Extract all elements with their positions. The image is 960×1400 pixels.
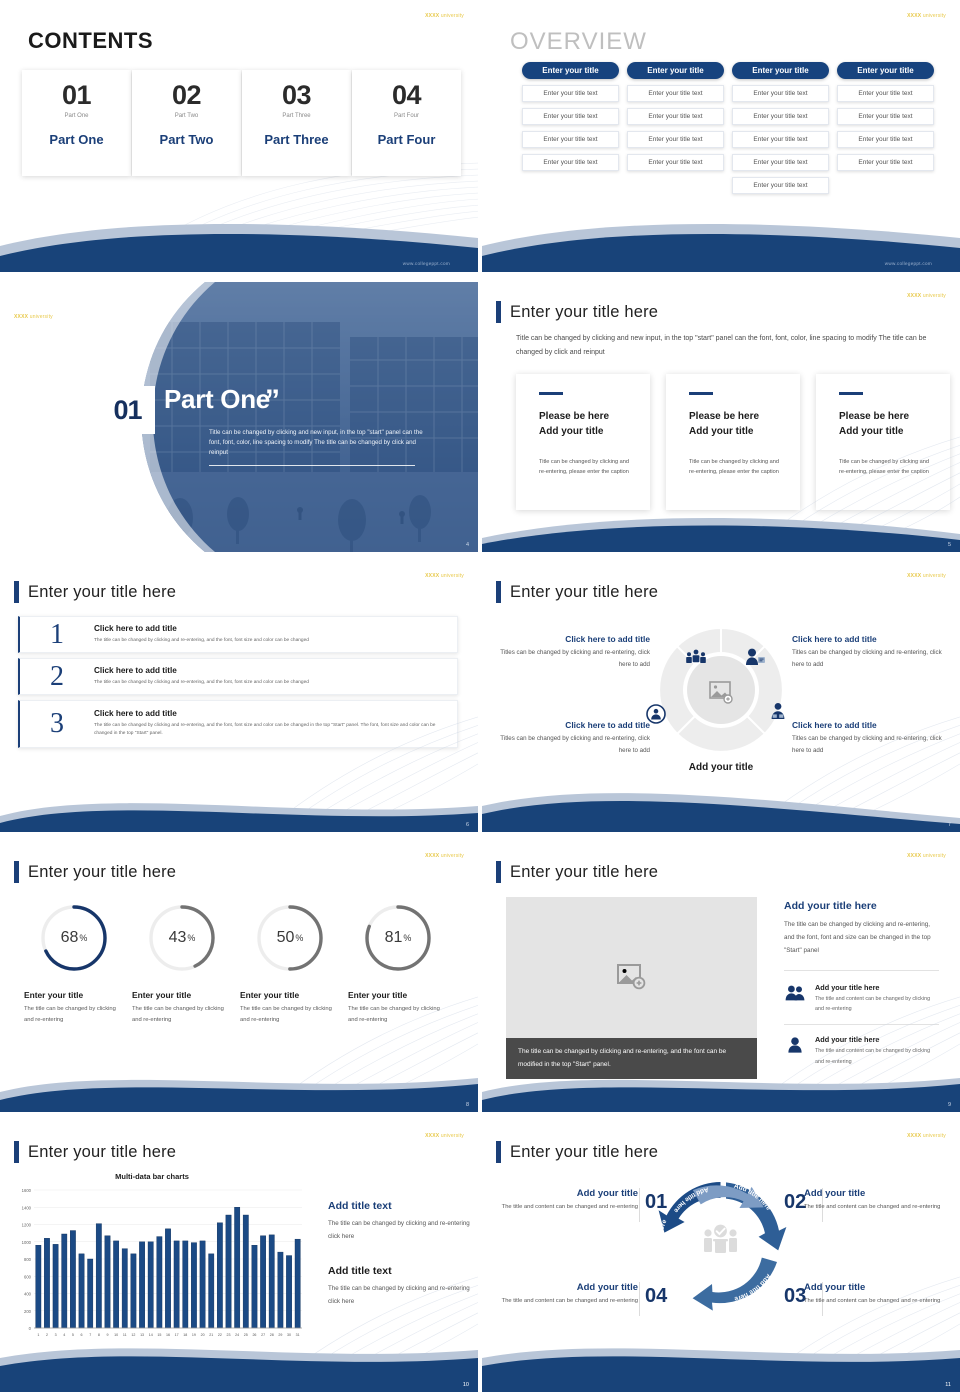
- donut-item[interactable]: 50% Enter your title The title can be ch…: [236, 902, 344, 1027]
- card-subtitle: Part Three: [282, 113, 310, 119]
- donut-description: The title can be changed by clicking and…: [24, 1004, 124, 1027]
- item-title: Add your title here: [815, 983, 939, 992]
- svg-text:3: 3: [55, 1333, 57, 1337]
- contents-card[interactable]: 01 Part One Part One: [22, 70, 131, 176]
- donut-ring: 81%: [362, 902, 434, 974]
- svg-text:14: 14: [149, 1333, 153, 1337]
- page-title: Enter your title here: [28, 1143, 176, 1162]
- donut-item[interactable]: 68% Enter your title The title can be ch…: [20, 902, 128, 1027]
- slide-image-and-list[interactable]: Enter your title here XXXX university Th…: [482, 842, 960, 1112]
- overview-columns: Enter your title Enter your title text E…: [522, 62, 934, 194]
- overview-item[interactable]: Enter your title text: [627, 154, 724, 171]
- lead-paragraph: Title can be changed by clicking and new…: [516, 332, 928, 361]
- card-dash: [539, 392, 563, 395]
- overview-column: Enter your title Enter your title text E…: [837, 62, 934, 194]
- svg-text:15: 15: [157, 1333, 161, 1337]
- overview-item[interactable]: Enter your title text: [627, 131, 724, 148]
- overview-item[interactable]: Enter your title text: [837, 85, 934, 102]
- brand-logo: XXXX university: [425, 1133, 464, 1139]
- brand-logo: XXXX university: [14, 314, 53, 320]
- svg-text:11: 11: [123, 1333, 127, 1337]
- footer-url: www.collegeppt.com: [403, 261, 450, 266]
- block-description: Titles can be changed by clicking and re…: [792, 733, 942, 757]
- svg-text:5: 5: [72, 1333, 74, 1337]
- cover-title-group: 01 Part One: [100, 386, 270, 434]
- cover-underline: [209, 465, 415, 466]
- svg-text:9: 9: [106, 1333, 108, 1337]
- page-title: Enter your title here: [510, 583, 658, 602]
- info-card[interactable]: Please be hereAdd your title Title can b…: [816, 374, 950, 510]
- cover-number-badge: 01: [100, 386, 155, 434]
- title-accent-bar: [14, 861, 19, 883]
- card-heading: Please be hereAdd your title: [539, 409, 650, 439]
- svg-text:31: 31: [296, 1333, 300, 1337]
- overview-column: Enter your title Enter your title text E…: [522, 62, 619, 194]
- overview-item[interactable]: Enter your title text: [732, 177, 829, 194]
- image-placeholder-icon: [617, 964, 647, 990]
- divider: [639, 1282, 640, 1316]
- brand-logo: XXXX university: [425, 853, 464, 859]
- footer-wave: [0, 1052, 478, 1112]
- card-name: Part Four: [378, 132, 436, 147]
- page-number: 7: [948, 822, 951, 828]
- cycle-block[interactable]: Add your title The title and content can…: [496, 1188, 638, 1213]
- donut-ring: 50%: [254, 902, 326, 974]
- slide-numbered-list[interactable]: Enter your title here XXXX university 1 …: [0, 562, 478, 832]
- overview-item[interactable]: Enter your title text: [627, 85, 724, 102]
- svg-text:24: 24: [235, 1333, 239, 1337]
- numbered-row-list: 1 Click here to add title The title can …: [18, 616, 458, 748]
- cycle-block[interactable]: Add your title The title and content can…: [804, 1282, 946, 1307]
- svg-text:26: 26: [252, 1333, 256, 1337]
- overview-item[interactable]: Enter your title text: [837, 131, 934, 148]
- slide-circle-diagram[interactable]: Enter your title here XXXX university: [482, 562, 960, 832]
- overview-item[interactable]: Enter your title text: [837, 108, 934, 125]
- card-heading: Please be hereAdd your title: [839, 409, 950, 439]
- card-paragraph: Title can be changed by clicking and re-…: [839, 457, 934, 479]
- cycle-block[interactable]: Add your title The title and content can…: [804, 1188, 946, 1213]
- footer-wave: [0, 772, 478, 832]
- segmented-circle-diagram: [655, 624, 787, 756]
- card-name: Part Three: [264, 132, 328, 147]
- list-item[interactable]: Add your title here The title and conten…: [784, 1031, 939, 1071]
- block-title: Add your title: [496, 1282, 638, 1293]
- svg-text:19: 19: [192, 1333, 196, 1337]
- slide-overview[interactable]: OVERVIEW XXXX university Enter your titl…: [482, 2, 960, 272]
- contents-card[interactable]: 02 Part Two Part Two: [132, 70, 241, 176]
- overview-item[interactable]: Enter your title text: [837, 154, 934, 171]
- block-description: The title and content can be changed and…: [496, 1296, 638, 1307]
- single-user-icon: [784, 1035, 806, 1053]
- overview-item[interactable]: Enter your title text: [522, 131, 619, 148]
- card-name: Part Two: [160, 132, 214, 147]
- divider: [784, 1024, 939, 1025]
- svg-text:12: 12: [131, 1333, 135, 1337]
- card-subtitle: Part One: [64, 113, 88, 119]
- svg-text:10: 10: [114, 1333, 118, 1337]
- card-number: 02: [172, 82, 201, 109]
- donut-description: The title can be changed by clicking and…: [132, 1004, 232, 1027]
- overview-item[interactable]: Enter your title text: [732, 108, 829, 125]
- slide-part-one-cover[interactable]: XXXX university 01 Part One ” Title can …: [0, 282, 478, 552]
- person-group-icon: [768, 702, 788, 722]
- donut-title: Enter your title: [240, 990, 340, 1000]
- title-accent-bar: [496, 1141, 501, 1163]
- cover-number: 01: [113, 395, 141, 426]
- page-title: Enter your title here: [510, 1143, 658, 1162]
- title-accent-bar: [14, 1141, 19, 1163]
- two-users-icon: [784, 983, 806, 1001]
- donut-item[interactable]: 43% Enter your title The title can be ch…: [128, 902, 236, 1027]
- brand-logo: XXXX university: [907, 293, 946, 299]
- svg-text:Add title here: Add title here: [657, 1218, 669, 1263]
- page-title: Enter your title here: [28, 583, 176, 602]
- block-title: Click here to add title: [792, 720, 942, 730]
- svg-text:30: 30: [287, 1333, 291, 1337]
- column-title-pill[interactable]: Enter your title: [732, 62, 829, 79]
- contents-card[interactable]: 03 Part Three Part Three: [242, 70, 351, 176]
- brand-logo: XXXX university: [907, 573, 946, 579]
- page-title-group: Enter your title here: [14, 581, 176, 603]
- card-number: 04: [392, 82, 421, 109]
- svg-text:0: 0: [29, 1326, 32, 1331]
- donut-value: 68%: [38, 902, 110, 974]
- side-paragraph: The title can be changed by clicking and…: [328, 1218, 478, 1243]
- brand-logo: XXXX university: [907, 853, 946, 859]
- card-subtitle: Part Two: [175, 113, 199, 119]
- title-accent-bar: [496, 861, 501, 883]
- svg-text:18: 18: [183, 1333, 187, 1337]
- cycle-arrow-diagram: Add title here Add title here Add title …: [648, 1170, 793, 1315]
- page-title-group: Enter your title here: [496, 581, 658, 603]
- donut-item[interactable]: 81% Enter your title The title can be ch…: [344, 902, 452, 1027]
- donut-description: The title can be changed by clicking and…: [348, 1004, 448, 1027]
- title-accent-bar: [496, 581, 501, 603]
- donut-title: Enter your title: [348, 990, 448, 1000]
- brand-logo: XXXX university: [907, 1133, 946, 1139]
- list-item[interactable]: 3 Click here to add title The title can …: [18, 700, 458, 748]
- donut-value: 43%: [146, 902, 218, 974]
- slide-deck-grid: CONTENTS XXXX university 01 Part One Par…: [0, 0, 960, 1392]
- column-title-pill[interactable]: Enter your title: [627, 62, 724, 79]
- item-title: Add your title here: [815, 1035, 939, 1044]
- block-description: The title and content can be changed and…: [804, 1202, 946, 1213]
- cycle-block[interactable]: Add your title The title and content can…: [496, 1282, 638, 1307]
- svg-text:2: 2: [46, 1333, 48, 1337]
- svg-text:400: 400: [24, 1292, 32, 1297]
- page-title-group: Enter your title here: [496, 301, 658, 323]
- block-title: Click here to add title: [500, 720, 650, 730]
- page-number: 9: [948, 1102, 951, 1108]
- page-number: 4: [466, 542, 469, 548]
- title-accent-bar: [14, 581, 19, 603]
- block-description: The title and content can be changed and…: [804, 1296, 946, 1307]
- row-description: The title can be changed by clicking and…: [94, 637, 443, 645]
- page-title: OVERVIEW: [510, 28, 647, 56]
- block-description: Titles can be changed by clicking and re…: [500, 647, 650, 671]
- svg-text:600: 600: [24, 1274, 32, 1279]
- cover-title: Part One: [164, 386, 270, 412]
- donut-row: 68% Enter your title The title can be ch…: [20, 902, 452, 1027]
- svg-text:8: 8: [98, 1333, 100, 1337]
- donut-title: Enter your title: [24, 990, 124, 1000]
- donut-ring: 68%: [38, 902, 110, 974]
- group-people-icon: [685, 649, 707, 665]
- bar-chart-svg: 0200400600800100012001400160012345678910…: [8, 1184, 308, 1344]
- svg-text:29: 29: [278, 1333, 282, 1337]
- page-title: Enter your title here: [510, 303, 658, 322]
- svg-text:1400: 1400: [22, 1205, 32, 1210]
- diagram-block[interactable]: Click here to add title Titles can be ch…: [792, 720, 942, 757]
- slide-bar-chart[interactable]: Enter your title here XXXX university Mu…: [0, 1122, 478, 1392]
- cycle-number: 04: [645, 1285, 667, 1308]
- block-title: Click here to add title: [792, 634, 942, 644]
- title-accent-bar: [496, 301, 501, 323]
- row-index: 2: [20, 663, 94, 691]
- donut-title: Enter your title: [132, 990, 232, 1000]
- row-index: 1: [20, 621, 94, 649]
- item-description: The title and content can be changed by …: [815, 1046, 939, 1067]
- row-title: Click here to add title: [94, 624, 443, 633]
- svg-text:21: 21: [209, 1333, 213, 1337]
- overview-item[interactable]: Enter your title text: [522, 108, 619, 125]
- block-title: Add your title: [496, 1188, 638, 1199]
- diagram-caption: Add your title: [655, 762, 787, 773]
- column-title-pill[interactable]: Enter your title: [837, 62, 934, 79]
- contents-card-row: 01 Part One Part One 02 Part Two Part Tw…: [22, 70, 461, 176]
- svg-text:7: 7: [89, 1333, 91, 1337]
- image-caption: The title can be changed by clicking and…: [506, 1038, 757, 1079]
- svg-text:25: 25: [244, 1333, 248, 1337]
- donut-ring: 43%: [146, 902, 218, 974]
- donut-value: 81%: [362, 902, 434, 974]
- list-item[interactable]: 1 Click here to add title The title can …: [18, 616, 458, 653]
- image-placeholder[interactable]: The title can be changed by clicking and…: [506, 897, 757, 1079]
- card-number: 03: [282, 82, 311, 109]
- row-title: Click here to add title: [94, 709, 443, 718]
- row-index: 3: [20, 710, 94, 738]
- footer-wave: [482, 1332, 960, 1392]
- svg-text:1: 1: [37, 1333, 39, 1337]
- slide-percentage-donuts[interactable]: Enter your title here XXXX university 68…: [0, 842, 478, 1112]
- diagram-block[interactable]: Click here to add title Titles can be ch…: [500, 634, 650, 671]
- quote-mark-icon: ”: [265, 390, 280, 411]
- cycle-number: 01: [645, 1191, 667, 1214]
- svg-text:22: 22: [218, 1333, 222, 1337]
- brand-logo: XXXX university: [425, 573, 464, 579]
- page-number: 8: [466, 1102, 469, 1108]
- page-title-group: Enter your title here: [14, 1141, 176, 1163]
- right-heading: Add your title here: [784, 900, 939, 912]
- card-number: 01: [62, 82, 91, 109]
- list-item[interactable]: 2 Click here to add title The title can …: [18, 658, 458, 695]
- card-dash: [689, 392, 713, 395]
- overview-item[interactable]: Enter your title text: [627, 108, 724, 125]
- svg-text:28: 28: [270, 1333, 274, 1337]
- page-number: 6: [466, 822, 469, 828]
- footer-url: www.collegeppt.com: [885, 261, 932, 266]
- overview-item[interactable]: Enter your title text: [732, 85, 829, 102]
- page-title-group: Enter your title here: [14, 861, 176, 883]
- row-title: Click here to add title: [94, 666, 443, 675]
- page-number: 5: [948, 542, 951, 548]
- page-title: CONTENTS: [28, 28, 153, 54]
- info-card[interactable]: Please be hereAdd your title Title can b…: [666, 374, 800, 510]
- chart-side-text: Add title text The title can be changed …: [328, 1200, 478, 1309]
- card-row: Please be hereAdd your title Title can b…: [516, 374, 950, 510]
- cycle-number: 03: [784, 1285, 806, 1308]
- bar-chart[interactable]: Multi-data bar charts 020040060080010001…: [8, 1184, 308, 1349]
- card-name: Part One: [49, 132, 103, 147]
- svg-text:17: 17: [175, 1333, 179, 1337]
- right-paragraph: The title can be changed by clicking and…: [784, 919, 939, 958]
- card-paragraph: Title can be changed by clicking and re-…: [539, 457, 634, 479]
- svg-text:1200: 1200: [22, 1223, 32, 1228]
- overview-column: Enter your title Enter your title text E…: [732, 62, 829, 194]
- overview-column: Enter your title Enter your title text E…: [627, 62, 724, 194]
- list-item[interactable]: Add your title here The title and conten…: [784, 979, 939, 1019]
- row-description: The title can be changed by clicking and…: [94, 722, 443, 739]
- row-description: The title can be changed by clicking and…: [94, 679, 443, 687]
- slide-contents[interactable]: CONTENTS XXXX university 01 Part One Par…: [0, 2, 478, 272]
- donut-description: The title can be changed by clicking and…: [240, 1004, 340, 1027]
- chart-title: Multi-data bar charts: [2, 1172, 302, 1181]
- svg-text:23: 23: [227, 1333, 231, 1337]
- side-paragraph: The title can be changed by clicking and…: [328, 1283, 478, 1308]
- svg-text:1600: 1600: [22, 1188, 32, 1193]
- brand-logo: XXXX university: [425, 13, 464, 19]
- diagram-block[interactable]: Click here to add title Titles can be ch…: [500, 720, 650, 757]
- svg-text:800: 800: [24, 1257, 32, 1262]
- block-title: Click here to add title: [500, 634, 650, 644]
- block-description: Titles can be changed by clicking and re…: [500, 733, 650, 757]
- block-description: Titles can be changed by clicking and re…: [792, 647, 942, 671]
- svg-text:4: 4: [63, 1333, 65, 1337]
- cover-description: Title can be changed by clicking and new…: [209, 428, 429, 459]
- divider: [639, 1188, 640, 1222]
- overview-item[interactable]: Enter your title text: [732, 154, 829, 171]
- contents-card[interactable]: 04 Part Four Part Four: [352, 70, 461, 176]
- page-number: 10: [463, 1382, 469, 1388]
- card-dash: [839, 392, 863, 395]
- column-title-pill[interactable]: Enter your title: [522, 62, 619, 79]
- footer-wave: [482, 772, 960, 832]
- divider: [784, 970, 939, 971]
- svg-text:200: 200: [24, 1309, 32, 1314]
- block-title: Add your title: [804, 1188, 946, 1199]
- info-card[interactable]: Please be hereAdd your title Title can b…: [516, 374, 650, 510]
- svg-text:6: 6: [81, 1333, 83, 1337]
- slide-three-cards[interactable]: Enter your title here XXXX university Ti…: [482, 282, 960, 552]
- item-description: The title and content can be changed by …: [815, 994, 939, 1015]
- right-column: Add your title here The title can be cha…: [784, 900, 939, 1071]
- page-title: Enter your title here: [28, 863, 176, 882]
- person-badge-icon: [744, 648, 766, 666]
- svg-text:20: 20: [201, 1333, 205, 1337]
- overview-item[interactable]: Enter your title text: [522, 85, 619, 102]
- side-heading: Add title text: [328, 1265, 478, 1277]
- card-heading: Please be hereAdd your title: [689, 409, 800, 439]
- side-heading: Add title text: [328, 1200, 478, 1212]
- page-title-group: Enter your title here: [496, 861, 658, 883]
- card-subtitle: Part Four: [394, 113, 419, 119]
- svg-text:27: 27: [261, 1333, 265, 1337]
- block-description: The title and content can be changed and…: [496, 1202, 638, 1213]
- card-paragraph: Title can be changed by clicking and re-…: [689, 457, 784, 479]
- page-title: Enter your title here: [510, 863, 658, 882]
- svg-text:16: 16: [166, 1333, 170, 1337]
- block-title: Add your title: [804, 1282, 946, 1293]
- cycle-number: 02: [784, 1191, 806, 1214]
- brand-logo: XXXX university: [907, 13, 946, 19]
- diagram-block[interactable]: Click here to add title Titles can be ch…: [792, 634, 942, 671]
- overview-item[interactable]: Enter your title text: [522, 154, 619, 171]
- overview-item[interactable]: Enter your title text: [732, 131, 829, 148]
- slide-cycle-diagram[interactable]: Enter your title here XXXX university: [482, 1122, 960, 1392]
- page-title-group: Enter your title here: [496, 1141, 658, 1163]
- donut-value: 50%: [254, 902, 326, 974]
- page-number: 11: [945, 1382, 951, 1388]
- svg-text:13: 13: [140, 1333, 144, 1337]
- svg-text:1000: 1000: [22, 1240, 32, 1245]
